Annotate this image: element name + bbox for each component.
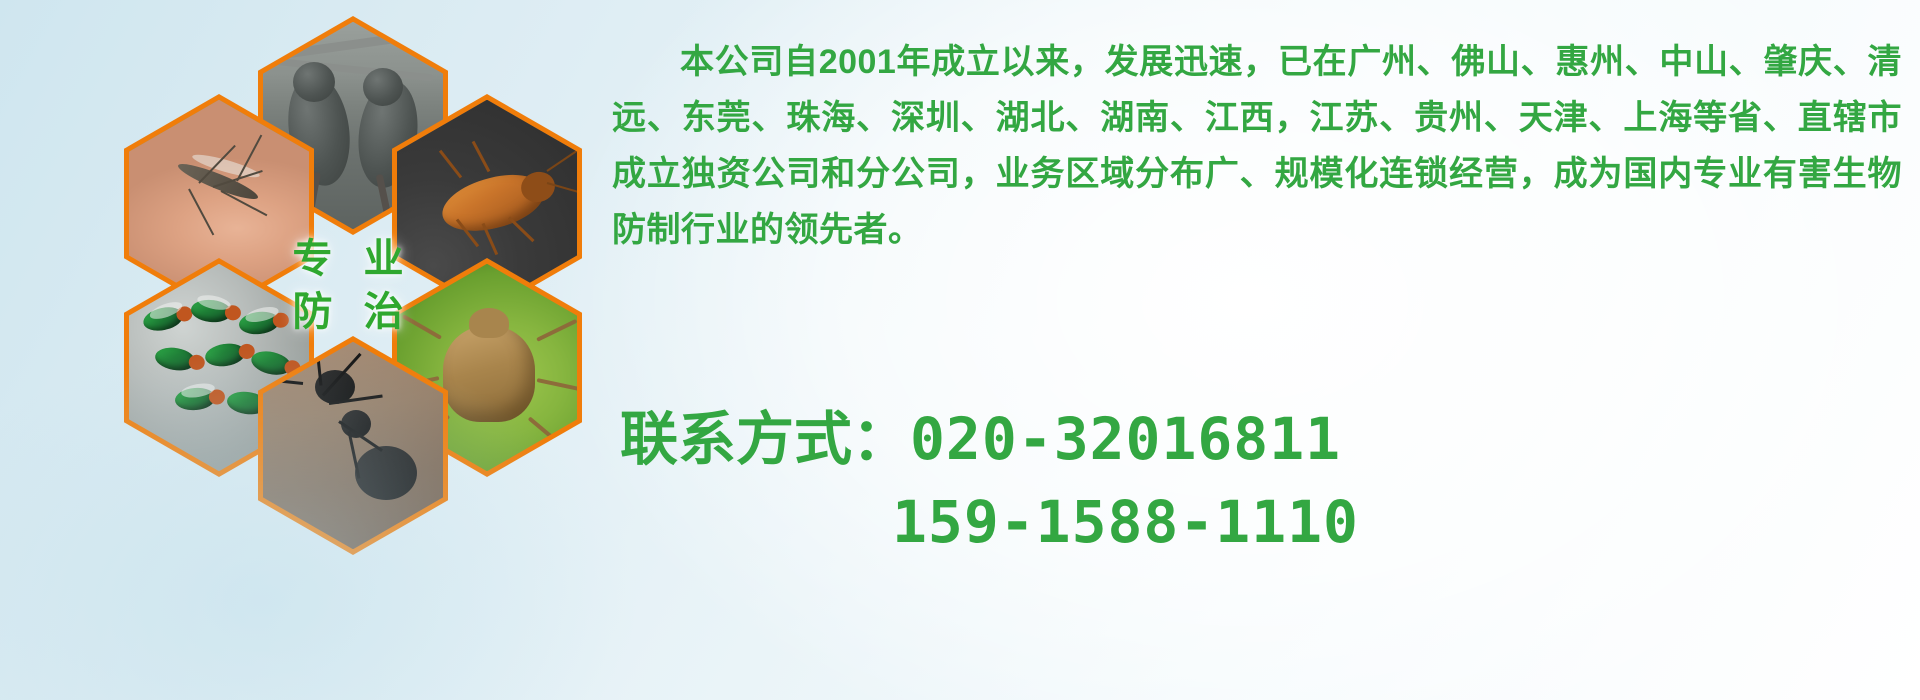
slogan-line-2: 防 治: [292, 286, 413, 339]
brand-slogan: 专 业 防 治: [258, 176, 448, 395]
intro-copy: 本公司自2001年成立以来，发展迅速，已在广州、佛山、惠州、中山、肇庆、清远、东…: [612, 34, 1902, 258]
contact-mobile-line: 159-1588-1110: [620, 481, 1910, 564]
contact-landline-line: 联系方式：020-32016811: [620, 398, 1910, 481]
intro-paragraph: 本公司自2001年成立以来，发展迅速，已在广州、佛山、惠州、中山、肇庆、清远、东…: [612, 34, 1902, 258]
honeycomb-cluster: 专 业 防 治: [96, 6, 596, 566]
contact-landline[interactable]: 020-32016811: [910, 405, 1341, 473]
contact-mobile[interactable]: 159-1588-1110: [892, 488, 1359, 556]
slogan-line-1: 专 业: [292, 233, 413, 286]
banner-root: 专 业 防 治 本公司自2001年成立以来，发展迅速，已在广州、佛山、惠州、中山…: [0, 0, 1920, 700]
contact-label: 联系方式：: [620, 407, 910, 472]
contact-block: 联系方式：020-32016811 159-1588-1110: [620, 398, 1910, 564]
